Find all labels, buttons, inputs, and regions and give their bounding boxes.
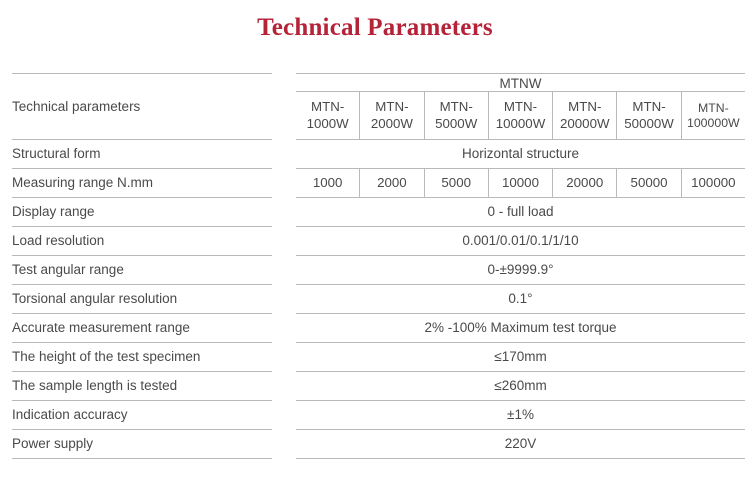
model-header-cell: MTN-50000W bbox=[616, 92, 680, 139]
model-suffix: 10000W bbox=[496, 116, 546, 132]
parameter-label: Indication accuracy bbox=[12, 401, 272, 429]
model-suffix: 2000W bbox=[371, 116, 413, 132]
parameter-label: The height of the test specimen bbox=[12, 343, 272, 371]
parameter-value-cell: 100000 bbox=[681, 169, 745, 197]
model-suffix: 5000W bbox=[435, 116, 477, 132]
model-header-cell: MTN-5000W bbox=[424, 92, 488, 139]
row-rule-right bbox=[296, 458, 745, 459]
model-prefix: MTN- bbox=[632, 99, 665, 115]
parameter-value: 220V bbox=[296, 430, 745, 458]
parameter-label: Power supply bbox=[12, 430, 272, 458]
model-prefix: MTN- bbox=[311, 99, 344, 115]
parameter-label: Structural form bbox=[12, 140, 272, 168]
parameter-value: 2% -100% Maximum test torque bbox=[296, 314, 745, 342]
parameter-value: 0.1° bbox=[296, 285, 745, 313]
parameter-value: ±1% bbox=[296, 401, 745, 429]
parameter-label: Display range bbox=[12, 198, 272, 226]
parameter-value: ≤170mm bbox=[296, 343, 745, 371]
model-suffix: 100000W bbox=[687, 116, 740, 131]
parameter-label: Test angular range bbox=[12, 256, 272, 284]
model-header-cell: MTN-20000W bbox=[552, 92, 616, 139]
parameter-value-grid: 100020005000100002000050000100000 bbox=[296, 169, 745, 197]
model-header-row: MTN-1000WMTN-2000WMTN-5000WMTN-10000WMTN… bbox=[296, 92, 745, 139]
parameter-value: 0-±9999.9° bbox=[296, 256, 745, 284]
parameter-value-cell: 20000 bbox=[552, 169, 616, 197]
model-prefix: MTN- bbox=[504, 99, 537, 115]
parameter-label: Torsional angular resolution bbox=[12, 285, 272, 313]
model-prefix: MTN- bbox=[698, 101, 729, 116]
model-header-cell: MTN-1000W bbox=[296, 92, 359, 139]
parameter-value: ≤260mm bbox=[296, 372, 745, 400]
parameter-value: 0 - full load bbox=[296, 198, 745, 226]
model-suffix: 1000W bbox=[307, 116, 349, 132]
group-header-mtnw: MTNW bbox=[296, 74, 745, 92]
parameter-value: Horizontal structure bbox=[296, 140, 745, 168]
left-header-technical-parameters: Technical parameters bbox=[12, 74, 272, 139]
model-prefix: MTN- bbox=[440, 99, 473, 115]
model-suffix: 50000W bbox=[624, 116, 674, 132]
parameter-value-cell: 1000 bbox=[296, 169, 359, 197]
model-prefix: MTN- bbox=[568, 99, 601, 115]
model-header-cell: MTN-2000W bbox=[359, 92, 423, 139]
parameter-value-cell: 2000 bbox=[359, 169, 423, 197]
parameter-label: Load resolution bbox=[12, 227, 272, 255]
model-prefix: MTN- bbox=[375, 99, 408, 115]
model-suffix: 20000W bbox=[560, 116, 610, 132]
technical-parameters-table: MTNWMTN-1000WMTN-2000WMTN-5000WMTN-10000… bbox=[0, 0, 750, 477]
model-header-cell: MTN-10000W bbox=[488, 92, 552, 139]
parameter-label: Measuring range N.mm bbox=[12, 169, 272, 197]
parameter-value-cell: 10000 bbox=[488, 169, 552, 197]
model-header-cell: MTN-100000W bbox=[681, 92, 745, 139]
parameter-label: Accurate measurement range bbox=[12, 314, 272, 342]
parameter-value: 0.001/0.01/0.1/1/10 bbox=[296, 227, 745, 255]
parameter-value-cell: 50000 bbox=[616, 169, 680, 197]
row-rule-left bbox=[12, 458, 272, 459]
parameter-label: The sample length is tested bbox=[12, 372, 272, 400]
parameter-value-cell: 5000 bbox=[424, 169, 488, 197]
